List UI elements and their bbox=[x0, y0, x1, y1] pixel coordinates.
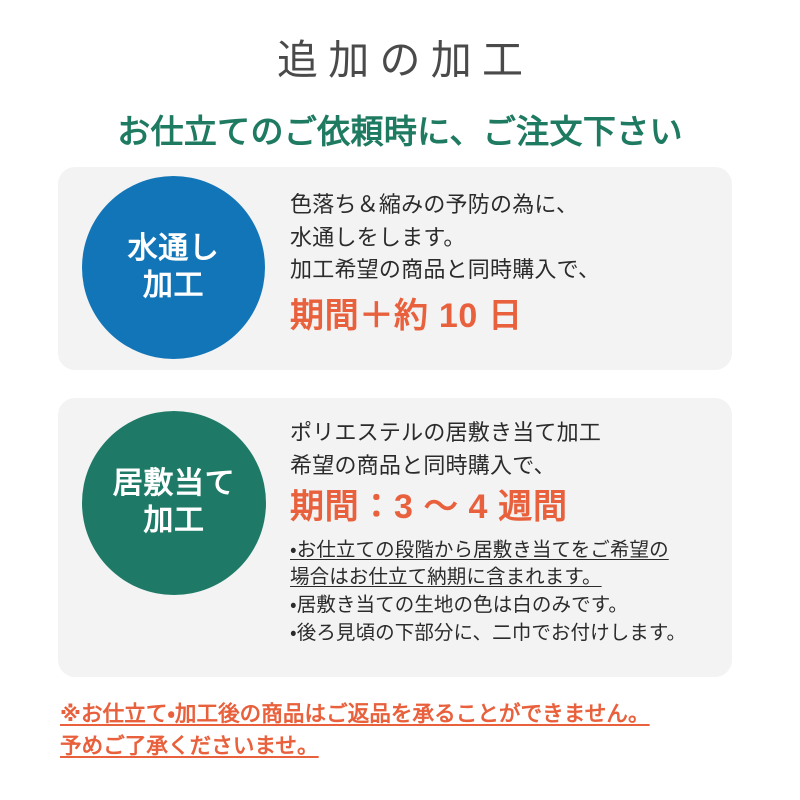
badge-label-line2: 加工 bbox=[143, 503, 204, 540]
body-line: ポリエステルの居敷き当て加工 bbox=[290, 417, 724, 450]
card-ishikiate: 居敷当て 加工 ポリエステルの居敷き当て加工 希望の商品と同時購入で、 期間：3… bbox=[58, 398, 732, 677]
badge-label-line1: 居敷当て bbox=[113, 466, 235, 503]
disclaimer-text-1: ※お仕立て・加工後の商品はご返品を承ることができません。 bbox=[60, 702, 650, 726]
page-title: 追加の加工 bbox=[0, 38, 800, 83]
list-item: ・お仕立ての段階から居敷き当てをご希望の 場合はお仕立て納期に含まれます。 bbox=[290, 537, 724, 592]
note-text: ・居敷き当ての生地の色は白のみです。 bbox=[290, 594, 628, 616]
disclaimer-text-2: 予めご了承くださいませ。 bbox=[60, 734, 319, 758]
badge-label-line2: 加工 bbox=[143, 268, 204, 305]
list-item: ・居敷き当ての生地の色は白のみです。 bbox=[290, 592, 724, 620]
body-line: 水通しをします。 bbox=[290, 222, 724, 255]
card-body-mizutoshi: 色落ち＆縮みの予防の為に、 水通しをします。 加工希望の商品と同時購入で、 期間… bbox=[290, 189, 724, 337]
disclaimer-line-1: ※お仕立て・加工後の商品はご返品を承ることができません。 bbox=[60, 699, 760, 731]
infographic-page: 追加の加工 お仕立てのご依頼時に、ご注文下さい 水通し 加工 色落ち＆縮みの予防… bbox=[0, 0, 800, 800]
disclaimer-line-2: 予めご了承くださいませ。 bbox=[60, 731, 760, 763]
badge-mizutoshi: 水通し 加工 bbox=[82, 176, 265, 359]
lead-time-highlight: 期間：3 〜 4 週間 bbox=[290, 486, 724, 529]
body-line: 加工希望の商品と同時購入で、 bbox=[290, 254, 724, 287]
card-mizutoshi: 水通し 加工 色落ち＆縮みの予防の為に、 水通しをします。 加工希望の商品と同時… bbox=[58, 167, 732, 370]
disclaimer: ※お仕立て・加工後の商品はご返品を承ることができません。 予めご了承くださいませ… bbox=[60, 699, 760, 762]
note-text-continued: 場合はお仕立て納期に含まれます。 bbox=[290, 564, 724, 592]
badge-ishikiate: 居敷当て 加工 bbox=[82, 411, 266, 595]
list-item: ・後ろ見頃の下部分に、二巾でお付けします。 bbox=[290, 620, 724, 648]
card-body-ishikiate: ポリエステルの居敷き当て加工 希望の商品と同時購入で、 期間：3 〜 4 週間 … bbox=[290, 417, 724, 647]
body-line: 色落ち＆縮みの予防の為に、 bbox=[290, 189, 724, 222]
page-subtitle: お仕立てのご依頼時に、ご注文下さい bbox=[0, 113, 800, 151]
lead-time-highlight: 期間＋約 10 日 bbox=[290, 295, 724, 338]
body-line: 希望の商品と同時購入で、 bbox=[290, 450, 724, 483]
note-text: ・後ろ見頃の下部分に、二巾でお付けします。 bbox=[290, 622, 686, 644]
note-list: ・お仕立ての段階から居敷き当てをご希望の 場合はお仕立て納期に含まれます。 ・居… bbox=[290, 537, 724, 648]
note-text: ・お仕立ての段階から居敷き当てをご希望の bbox=[290, 539, 669, 561]
badge-label-line1: 水通し bbox=[128, 231, 220, 268]
